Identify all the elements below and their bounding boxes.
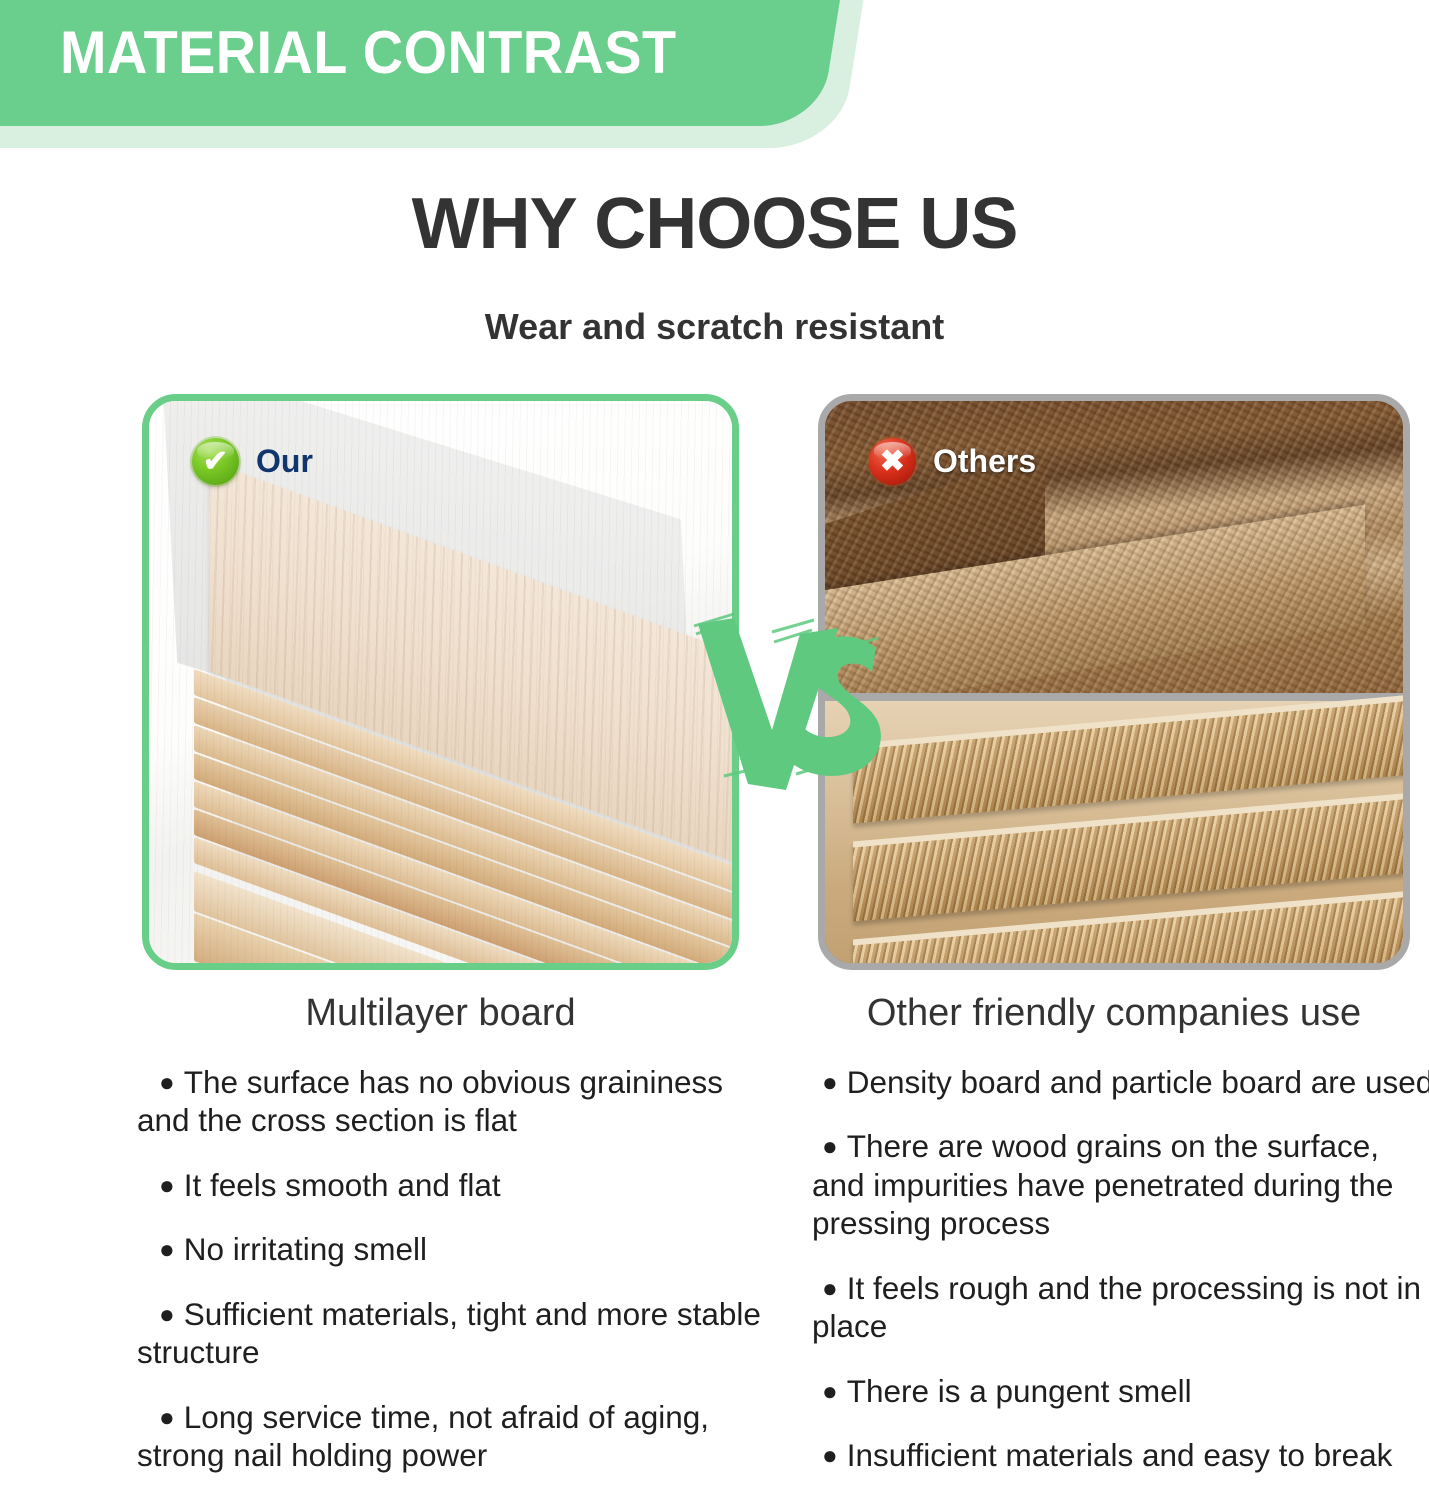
check-glyph: ✔: [203, 447, 228, 477]
our-card-caption: Multilayer board: [142, 992, 739, 1035]
photo-divider: [825, 693, 1403, 701]
list-item-text: There are wood grains on the surface, an…: [812, 1128, 1393, 1241]
bullet-dot-icon: ●: [822, 1376, 838, 1406]
our-badge-label: Our: [256, 443, 313, 480]
bullet-dot-icon: ●: [822, 1131, 838, 1161]
others-card-caption: Other friendly companies use: [818, 992, 1410, 1035]
list-item: ●Sufficient materials, tight and more st…: [137, 1295, 777, 1372]
list-item: ●Long service time, not afraid of aging,…: [137, 1398, 777, 1475]
banner-title: MATERIAL CONTRAST: [60, 18, 785, 87]
bullet-dot-icon: ●: [159, 1234, 175, 1264]
our-product-image: [149, 401, 732, 963]
particle-board-photo: [825, 701, 1403, 963]
list-item: ●No irritating smell: [137, 1230, 777, 1268]
bullet-dot-icon: ●: [822, 1440, 838, 1470]
list-item-text: The surface has no obvious graininess an…: [137, 1064, 723, 1138]
bullet-dot-icon: ●: [822, 1273, 838, 1303]
vs-divider-icon: [688, 604, 888, 794]
page-title: WHY CHOOSE US: [0, 183, 1429, 265]
others-product-image: [825, 401, 1403, 963]
our-badge: ✔ Our: [192, 438, 313, 485]
cross-glyph: ✖: [880, 447, 905, 477]
list-item-text: Insufficient materials and easy to break: [847, 1437, 1393, 1473]
others-badge: ✖ Others: [869, 438, 1036, 485]
list-item: ●It feels rough and the processing is no…: [812, 1269, 1429, 1346]
bullet-dot-icon: ●: [159, 1067, 175, 1097]
list-item: ●Density board and particle board are us…: [812, 1063, 1429, 1101]
page-subtitle: Wear and scratch resistant: [0, 306, 1429, 348]
list-item: ●It feels smooth and flat: [137, 1166, 777, 1204]
bullet-dot-icon: ●: [822, 1067, 838, 1097]
green-check-circle-icon: ✔: [192, 438, 239, 485]
others-badge-label: Others: [933, 443, 1036, 480]
bullet-dot-icon: ●: [159, 1299, 175, 1329]
list-item-text: Sufficient materials, tight and more sta…: [137, 1296, 761, 1370]
bullet-dot-icon: ●: [159, 1402, 175, 1432]
list-item-text: Long service time, not afraid of aging, …: [137, 1399, 709, 1473]
list-item: ●There are wood grains on the surface, a…: [812, 1127, 1429, 1242]
list-item-text: Density board and particle board are use…: [847, 1064, 1429, 1100]
list-item-text: It feels rough and the processing is not…: [812, 1270, 1421, 1344]
red-cross-circle-icon: ✖: [869, 438, 916, 485]
header-banner: MATERIAL CONTRAST: [0, 0, 900, 152]
others-feature-list: ●Density board and particle board are us…: [812, 1063, 1429, 1500]
list-item-text: It feels smooth and flat: [184, 1167, 501, 1203]
bullet-dot-icon: ●: [159, 1170, 175, 1200]
list-item: ●Insufficient materials and easy to brea…: [812, 1436, 1429, 1474]
list-item: ●There is a pungent smell: [812, 1372, 1429, 1410]
our-feature-list: ●The surface has no obvious graininess a…: [137, 1063, 777, 1500]
list-item-text: No irritating smell: [184, 1231, 427, 1267]
list-item-text: There is a pungent smell: [847, 1373, 1192, 1409]
list-item: ●The surface has no obvious graininess a…: [137, 1063, 777, 1140]
